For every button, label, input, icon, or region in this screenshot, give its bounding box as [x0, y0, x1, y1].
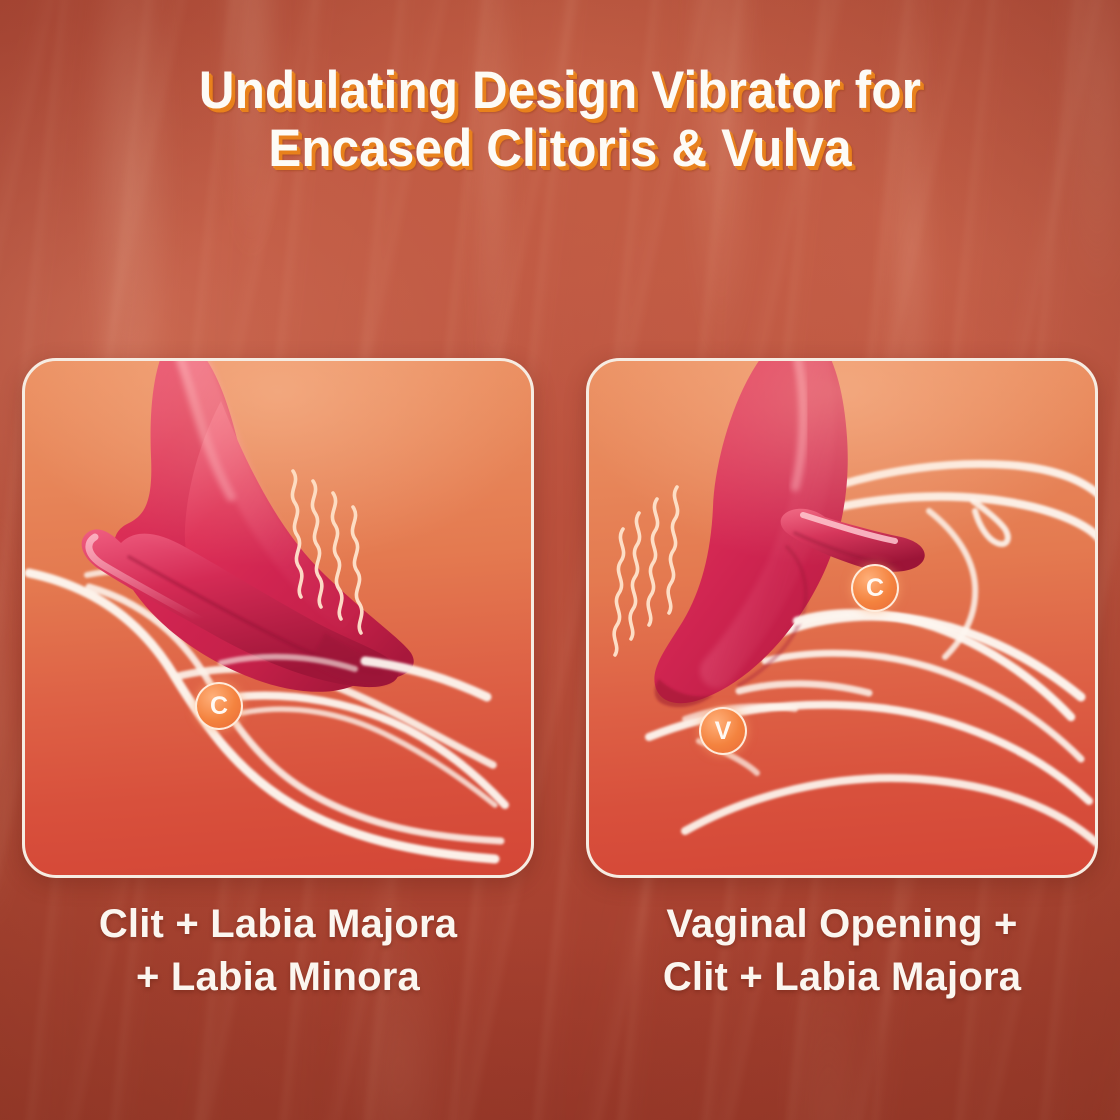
anatomy-illustration-right [589, 361, 1098, 878]
product-infographic: Undulating Design Vibrator for Encased C… [0, 0, 1120, 1120]
caption-left: Clit + Labia Majora + Labia Minora [11, 898, 545, 1004]
panel-left-artwork: C [25, 361, 531, 875]
title-line-2: Encased Clitoris & Vulva [39, 120, 1081, 178]
illustration-panel-right[interactable]: C V [586, 358, 1098, 878]
marker-badge-vaginal-opening-right[interactable]: V [699, 707, 747, 755]
title-line-1: Undulating Design Vibrator for [39, 62, 1081, 120]
device-shape [82, 361, 414, 692]
marker-label: C [866, 576, 884, 601]
page-title: Undulating Design Vibrator for Encased C… [0, 62, 1120, 178]
caption-left-line-2: + Labia Minora [11, 951, 545, 1004]
illustration-panels: C [0, 358, 1120, 880]
marker-label: C [210, 694, 228, 719]
marker-badge-clitoris-right[interactable]: C [851, 564, 899, 612]
anatomy-illustration-left [25, 361, 534, 878]
caption-left-line-1: Clit + Labia Majora [11, 898, 545, 951]
caption-right-line-1: Vaginal Opening + [575, 898, 1109, 951]
caption-right-line-2: Clit + Labia Majora [575, 951, 1109, 1004]
marker-label: V [715, 719, 732, 744]
illustration-panel-left[interactable]: C [22, 358, 534, 878]
marker-badge-clitoris-left[interactable]: C [195, 682, 243, 730]
panel-right-artwork: C V [589, 361, 1095, 875]
caption-right: Vaginal Opening + Clit + Labia Majora [575, 898, 1109, 1004]
vibration-waves [614, 487, 677, 655]
